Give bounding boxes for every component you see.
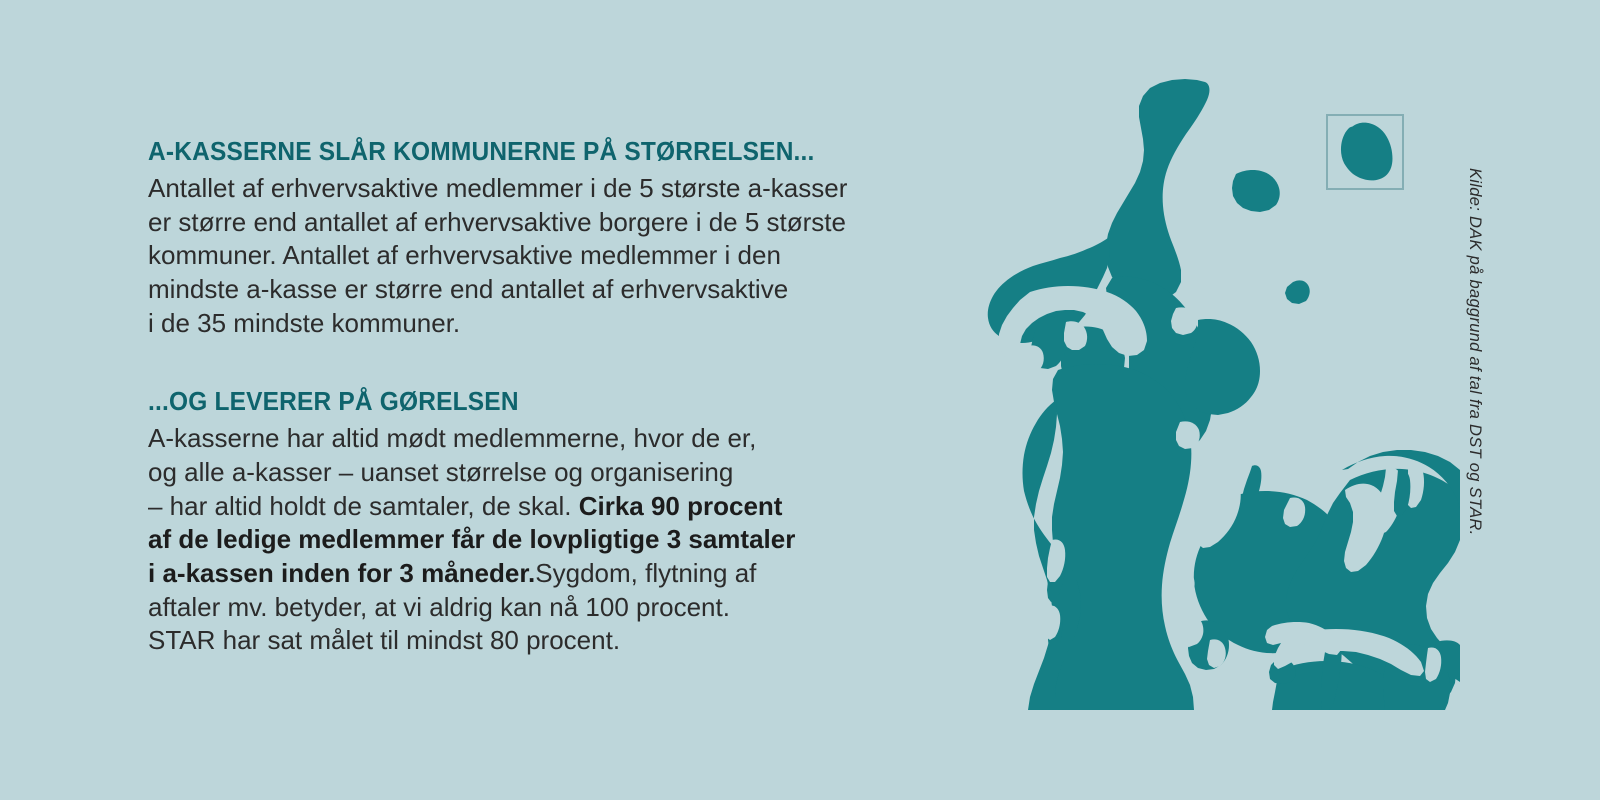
block-body-size: Antallet af erhvervsaktive medlemmer i d… <box>148 172 908 340</box>
body-text-run: Sygdom, flytning af <box>535 558 756 588</box>
bornholm-inset-box <box>1326 114 1404 190</box>
text-column: A-KASSERNE SLÅR KOMMUNERNE PÅ STØRRELSEN… <box>148 138 908 658</box>
body-emphasis-run: i a-kassen inden for 3 måneder. <box>148 558 535 588</box>
text-block-delivery: ...OG LEVERER PÅ GØRELSEN A-kasserne har… <box>148 388 908 658</box>
text-block-size: A-KASSERNE SLÅR KOMMUNERNE PÅ STØRRELSEN… <box>148 138 908 340</box>
body-line: aftaler mv. betyder, at vi aldrig kan nå… <box>148 591 908 625</box>
body-emphasis-run: Cirka 90 procent <box>579 491 783 521</box>
body-line: A-kasserne har altid mødt medlemmerne, h… <box>148 422 908 456</box>
body-line: Antallet af erhvervsaktive medlemmer i d… <box>148 172 908 206</box>
block-heading-delivery: ...OG LEVERER PÅ GØRELSEN <box>148 388 878 416</box>
body-line: er større end antallet af erhvervsaktive… <box>148 206 908 240</box>
infographic-page: A-KASSERNE SLÅR KOMMUNERNE PÅ STØRRELSEN… <box>0 0 1600 800</box>
body-line: og alle a-kasser – uanset størrelse og o… <box>148 456 908 490</box>
body-line-mixed: i a-kassen inden for 3 måneder.Sygdom, f… <box>148 557 908 591</box>
body-line: mindste a-kasse er større end antallet a… <box>148 273 908 307</box>
body-emphasis-run: af de ledige medlemmer får de lovpligtig… <box>148 523 908 557</box>
body-line: kommuner. Antallet af erhvervsaktive med… <box>148 239 908 273</box>
block-body-delivery: A-kasserne har altid mødt medlemmerne, h… <box>148 422 908 658</box>
body-text-run: – har altid holdt de samtaler, de skal. <box>148 491 579 521</box>
block-heading-size: A-KASSERNE SLÅR KOMMUNERNE PÅ STØRRELSEN… <box>148 138 878 166</box>
bornholm-map-icon <box>1328 116 1402 188</box>
body-line: STAR har sat målet til mindst 80 procent… <box>148 624 908 658</box>
body-line: i de 35 mindste kommuner. <box>148 307 908 341</box>
source-credit: Kilde: DAK på baggrund af tal fra DST og… <box>1465 168 1484 608</box>
body-line-mixed: – har altid holdt de samtaler, de skal. … <box>148 490 908 524</box>
